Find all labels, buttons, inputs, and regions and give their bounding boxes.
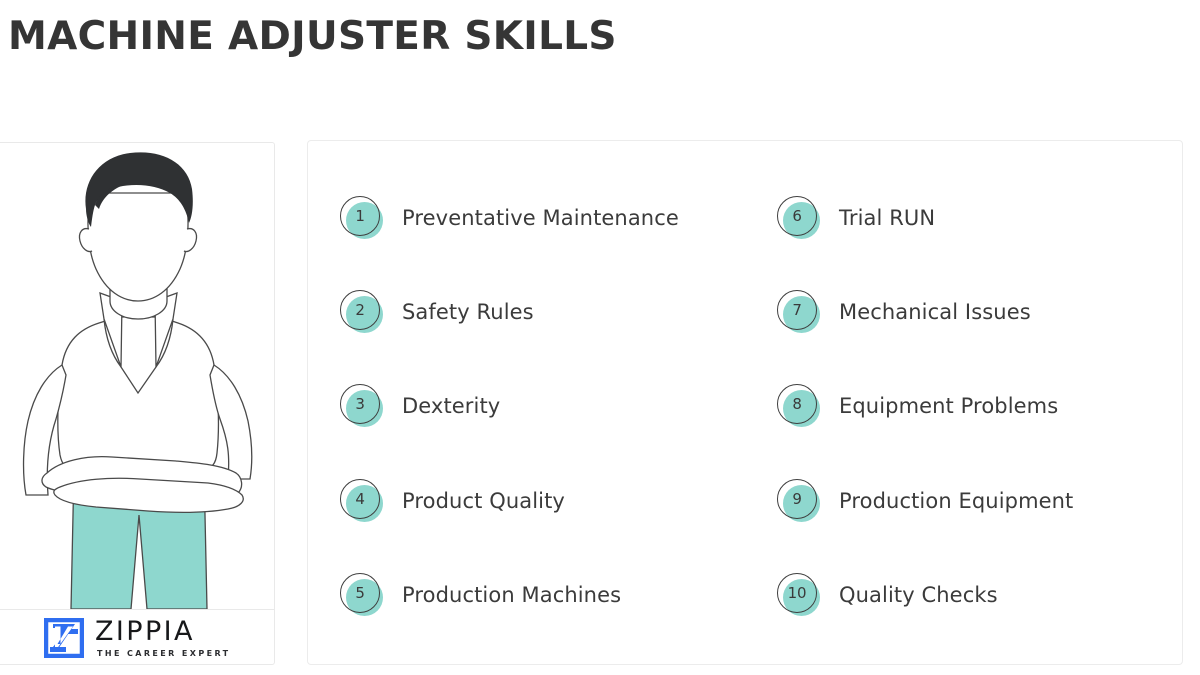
person-illustration: [0, 143, 275, 609]
skill-number-badge-7: 7: [777, 290, 821, 334]
zippia-tagline: THE CAREER EXPERT: [97, 650, 231, 658]
badge-number-text: 5: [340, 573, 380, 613]
skill-label-1: Preventative Maintenance: [402, 206, 679, 230]
skill-label-3: Dexterity: [402, 394, 500, 418]
skill-item-3[interactable]: 3 Dexterity: [308, 359, 745, 453]
skills-panel: 1 Preventative Maintenance 2 Safety Rule…: [307, 140, 1183, 665]
skill-label-2: Safety Rules: [402, 300, 534, 324]
badge-number-text: 3: [340, 384, 380, 424]
badge-number-text: 2: [340, 290, 380, 330]
badge-number-text: 6: [777, 196, 817, 236]
badge-number-text: 7: [777, 290, 817, 330]
skills-grid: 1 Preventative Maintenance 2 Safety Rule…: [308, 141, 1182, 664]
zippia-logo[interactable]: ZIPPIA THE CAREER EXPERT: [0, 610, 275, 665]
skill-item-5[interactable]: 5 Production Machines: [308, 548, 745, 642]
skill-number-badge-10: 10: [777, 573, 821, 617]
badge-number-text: 4: [340, 479, 380, 519]
skill-number-badge-5: 5: [340, 573, 384, 617]
person-illustration-svg: [0, 143, 275, 609]
skill-number-badge-4: 4: [340, 479, 384, 523]
skill-label-4: Product Quality: [402, 489, 565, 513]
badge-number-text: 8: [777, 384, 817, 424]
zippia-wordmark: ZIPPIA: [95, 618, 231, 645]
badge-number-text: 10: [777, 573, 817, 613]
page-title: MACHINE ADJUSTER SKILLS: [8, 14, 617, 59]
skill-item-7[interactable]: 7 Mechanical Issues: [745, 265, 1182, 359]
skill-item-2[interactable]: 2 Safety Rules: [308, 265, 745, 359]
skill-item-10[interactable]: 10 Quality Checks: [745, 548, 1182, 642]
badge-number-text: 1: [340, 196, 380, 236]
skill-number-badge-1: 1: [340, 196, 384, 240]
skill-label-10: Quality Checks: [839, 583, 998, 607]
zippia-z-mark-icon: [44, 618, 84, 658]
skill-label-6: Trial RUN: [839, 206, 935, 230]
skill-label-9: Production Equipment: [839, 489, 1073, 513]
skill-number-badge-9: 9: [777, 479, 821, 523]
skill-number-badge-3: 3: [340, 384, 384, 428]
skill-item-4[interactable]: 4 Product Quality: [308, 454, 745, 548]
skill-label-5: Production Machines: [402, 583, 621, 607]
skill-number-badge-8: 8: [777, 384, 821, 428]
skill-item-8[interactable]: 8 Equipment Problems: [745, 359, 1182, 453]
skill-item-6[interactable]: 6 Trial RUN: [745, 171, 1182, 265]
skill-item-1[interactable]: 1 Preventative Maintenance: [308, 171, 745, 265]
badge-number-text: 9: [777, 479, 817, 519]
skill-number-badge-2: 2: [340, 290, 384, 334]
skill-label-8: Equipment Problems: [839, 394, 1058, 418]
head-shape: [88, 193, 188, 301]
skill-label-7: Mechanical Issues: [839, 300, 1031, 324]
skill-number-badge-6: 6: [777, 196, 821, 240]
skill-item-9[interactable]: 9 Production Equipment: [745, 454, 1182, 548]
zippia-logo-text: ZIPPIA THE CAREER EXPERT: [95, 618, 231, 658]
illustration-panel: ZIPPIA THE CAREER EXPERT: [0, 142, 275, 665]
